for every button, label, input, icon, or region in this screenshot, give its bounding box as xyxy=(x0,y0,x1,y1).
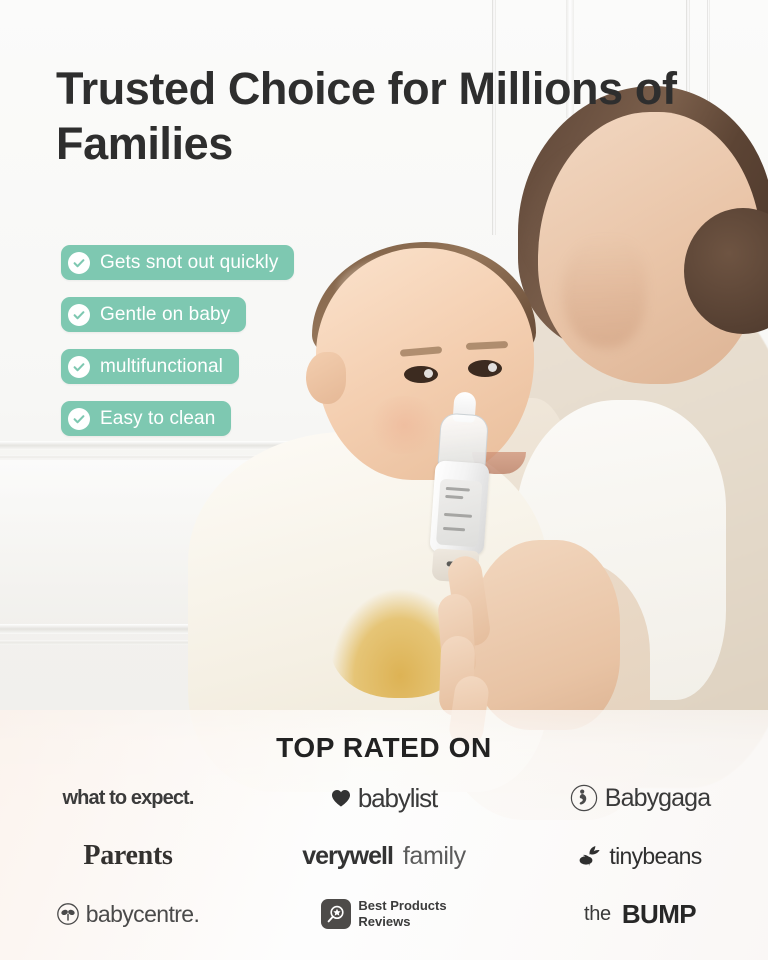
logo-verywell-family: verywell family xyxy=(302,834,466,878)
mother-hand xyxy=(470,540,620,730)
logo-babycentre: babycentre. xyxy=(57,892,200,936)
logo-parents: Parents xyxy=(83,834,172,878)
feature-pill-label: Gets snot out quickly xyxy=(100,252,278,274)
feature-pill: Gentle on baby xyxy=(61,297,246,332)
logo-label-light: the xyxy=(584,903,611,926)
logo-tinybeans: tinybeans xyxy=(578,834,701,878)
logo-label: tinybeans xyxy=(609,843,701,870)
feature-pill-label: multifunctional xyxy=(100,356,223,378)
product-lifestyle-banner: Trusted Choice for Millions of Families … xyxy=(0,0,768,960)
check-circle-icon xyxy=(68,304,90,326)
logo-label-light: family xyxy=(403,842,466,871)
check-circle-icon xyxy=(68,356,90,378)
baby-eye xyxy=(468,360,502,377)
feature-pill: Gets snot out quickly xyxy=(61,245,294,280)
logo-label: what to expect. xyxy=(63,787,194,810)
sprout-icon xyxy=(578,845,602,867)
heart-icon xyxy=(331,789,351,808)
logo-label: Parents xyxy=(83,840,172,872)
baby-eye xyxy=(404,366,438,383)
tree-circle-icon xyxy=(57,903,79,925)
feature-pill-label: Easy to clean xyxy=(100,408,215,430)
logo-label: Best Products Reviews xyxy=(358,898,446,930)
logo-babylist: babylist xyxy=(331,776,437,820)
section-heading: TOP RATED ON xyxy=(0,732,768,764)
logo-label-bold: verywell xyxy=(302,842,393,871)
top-rated-section: TOP RATED ON what to expect. babylist xyxy=(0,710,768,960)
logo-label-bold: BUMP xyxy=(622,899,696,930)
pregnancy-circle-icon xyxy=(570,784,598,812)
baby-cheek xyxy=(366,396,442,454)
logo-label: babylist xyxy=(358,783,437,814)
press-logo-grid: what to expect. babylist Babygaga xyxy=(0,776,768,936)
logo-label-line2: Reviews xyxy=(358,914,410,929)
feature-pill-label: Gentle on baby xyxy=(100,304,230,326)
check-circle-icon xyxy=(68,408,90,430)
page-title: Trusted Choice for Millions of Families xyxy=(56,62,716,172)
logo-label-line1: Best Products xyxy=(358,898,446,913)
feature-pill: multifunctional xyxy=(61,349,239,384)
logo-babygaga: Babygaga xyxy=(570,776,710,820)
mother-face-shadow xyxy=(562,236,646,348)
logo-label: Babygaga xyxy=(605,784,710,813)
logo-label: babycentre. xyxy=(86,901,200,928)
check-circle-icon xyxy=(68,252,90,274)
logo-the-bump: the BUMP xyxy=(584,892,696,936)
logo-best-products-reviews: Best Products Reviews xyxy=(321,892,446,936)
magnifier-star-icon xyxy=(321,899,351,929)
baby-ear xyxy=(306,352,346,404)
feature-pill-list: Gets snot out quickly Gentle on baby mul… xyxy=(61,245,294,453)
feature-pill: Easy to clean xyxy=(61,401,231,436)
logo-what-to-expect: what to expect. xyxy=(63,776,194,820)
